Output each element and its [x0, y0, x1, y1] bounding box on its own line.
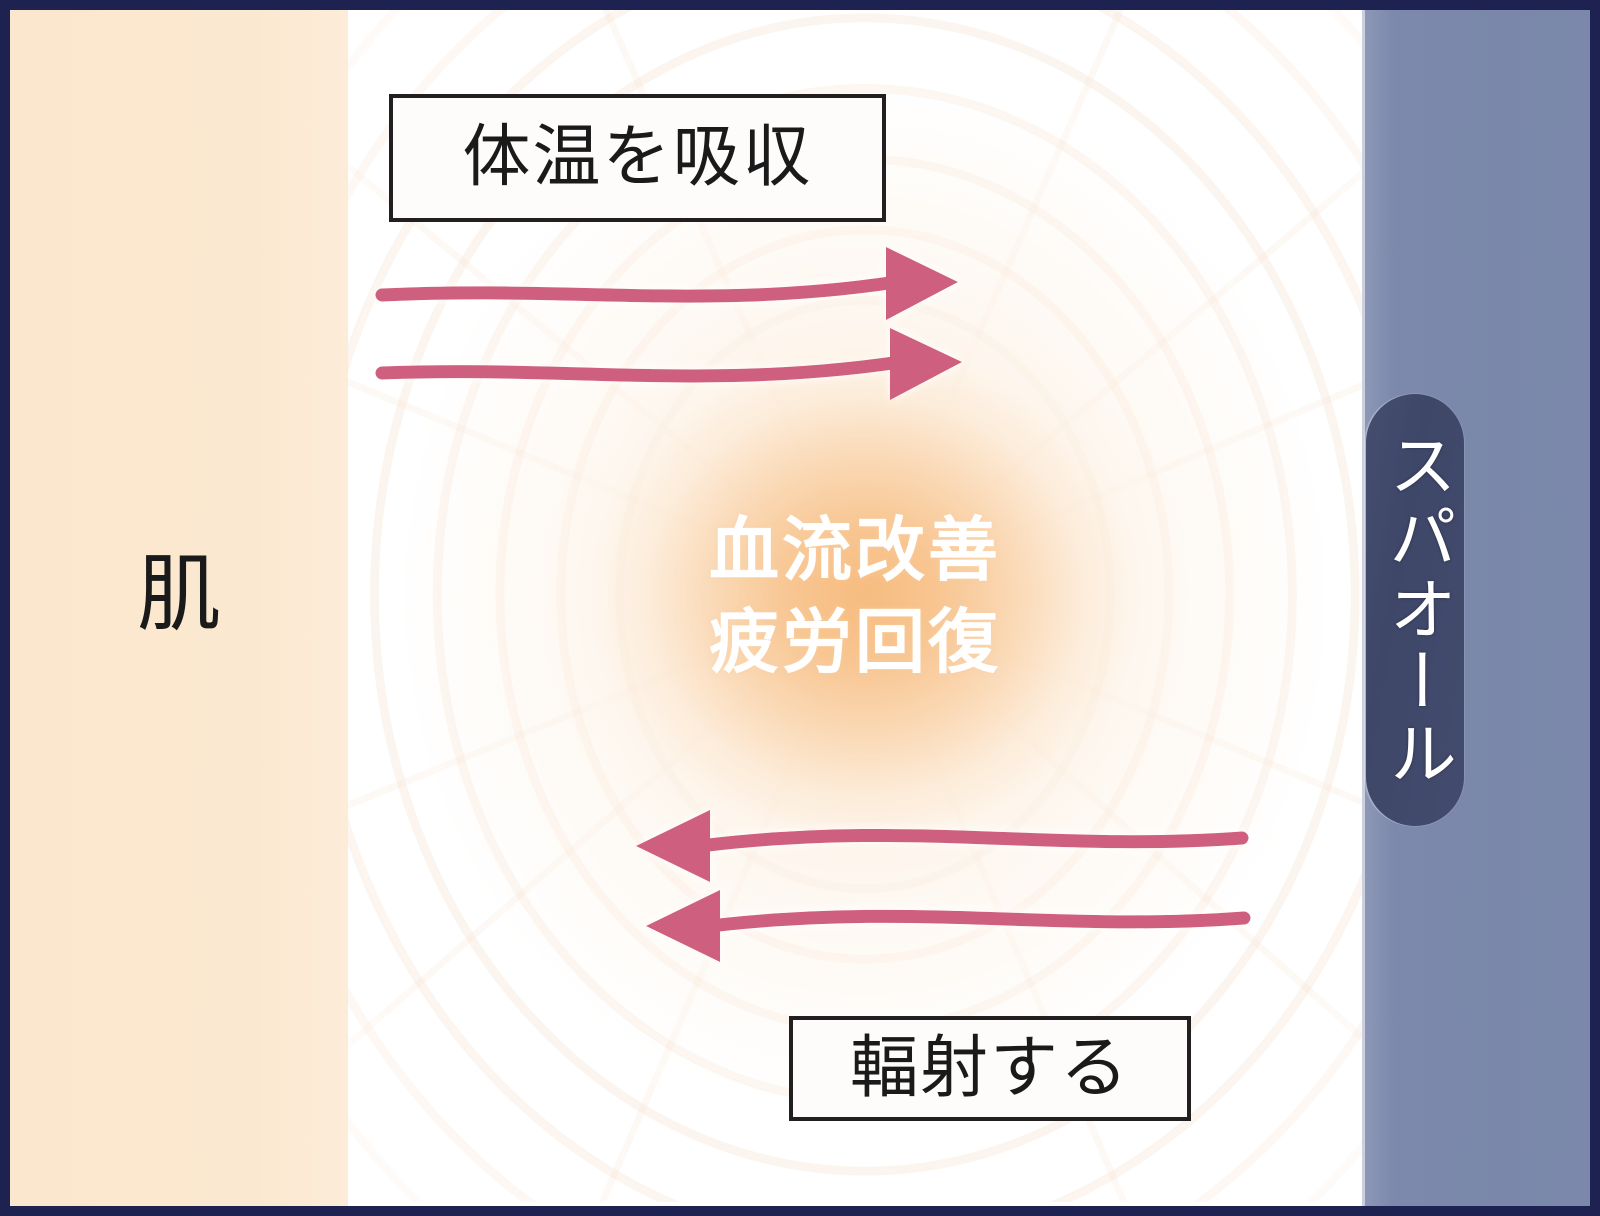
thermal-diagram-frame: 肌 血流改善 疲労回復 体温を吸収 輻射する スパオール [0, 0, 1600, 1216]
callout-radiate-label: 輻射する [850, 1035, 1130, 1103]
material-name-pill: スパオール [1366, 394, 1464, 826]
benefit-line-1: 血流改善 [348, 504, 1362, 596]
skin-label: 肌 [10, 552, 348, 636]
benefit-message: 血流改善 疲労回復 [348, 504, 1362, 689]
callout-absorb-label: 体温を吸収 [462, 124, 812, 192]
material-name-label: スパオール [1380, 430, 1451, 790]
callout-radiate: 輻射する [789, 1016, 1191, 1121]
callout-absorb-body-heat: 体温を吸収 [389, 94, 886, 222]
benefit-line-2: 疲労回復 [348, 596, 1362, 688]
